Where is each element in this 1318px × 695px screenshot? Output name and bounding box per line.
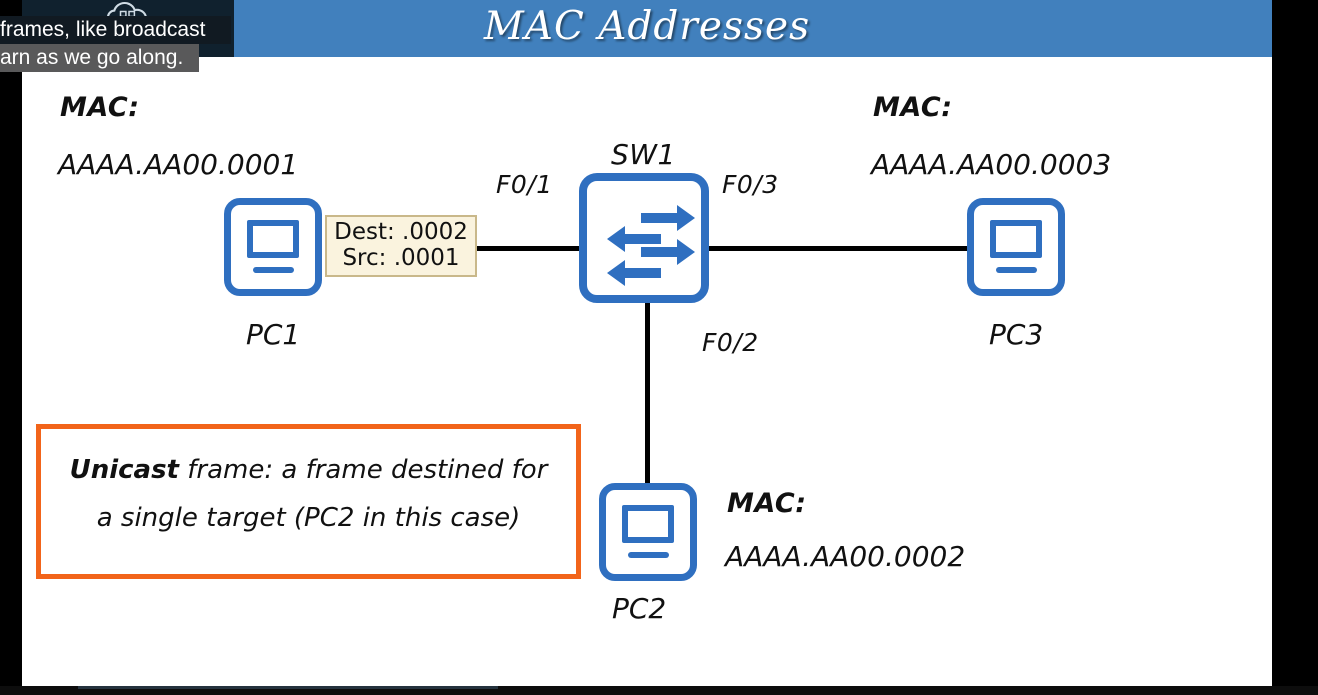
interface-label-f0-3: F0/3 xyxy=(722,170,779,199)
pc2-mac-title: MAC: xyxy=(727,488,807,519)
unicast-definition-callout: Unicast frame: a frame destined for a si… xyxy=(36,424,581,579)
pc1-mac-title: MAC: xyxy=(60,92,140,123)
pc2-icon[interactable] xyxy=(599,483,697,581)
video-player-stage: MAC Addresses SW1 F0/1 F0/3 F0/2 xyxy=(0,0,1318,695)
caption-line-1: frames, like broadcast xyxy=(0,16,231,44)
monitor-stand-icon xyxy=(253,267,294,273)
video-progress-bar[interactable] xyxy=(78,686,498,689)
pc1-icon[interactable] xyxy=(224,198,322,296)
video-caption-overlay: frames, like broadcast arn as we go alon… xyxy=(0,16,245,72)
pc2-mac-value: AAAA.AA00.0002 xyxy=(725,540,965,573)
unicast-keyword: Unicast xyxy=(70,455,179,485)
pc3-mac-title: MAC: xyxy=(873,92,953,123)
switch-arrows-icon xyxy=(599,195,703,295)
frame-header-tooltip: Dest: .0002 Src: .0001 xyxy=(325,215,477,277)
cable-sw1-pc3 xyxy=(702,246,990,251)
pc1-mac-value: AAAA.AA00.0001 xyxy=(58,148,298,181)
unicast-line1-rest: frame: a frame destined for xyxy=(179,455,547,485)
switch-name-label: SW1 xyxy=(611,138,676,171)
cable-sw1-pc2 xyxy=(645,295,650,485)
pc2-name-label: PC2 xyxy=(612,592,666,625)
monitor-stand-icon xyxy=(628,552,669,558)
monitor-screen-icon xyxy=(990,220,1042,258)
frame-src-label: Src: .0001 xyxy=(333,245,469,271)
video-player-controls-bar[interactable] xyxy=(0,686,1318,695)
interface-label-f0-2: F0/2 xyxy=(702,328,759,357)
frame-dest-label: Dest: .0002 xyxy=(333,219,469,245)
switch-icon[interactable] xyxy=(579,173,709,303)
monitor-stand-icon xyxy=(996,267,1037,273)
pc1-name-label: PC1 xyxy=(246,318,300,351)
interface-label-f0-1: F0/1 xyxy=(496,170,553,199)
pc3-name-label: PC3 xyxy=(989,318,1043,351)
unicast-callout-line-1: Unicast frame: a frame destined for xyxy=(41,455,576,485)
caption-line-2: arn as we go along. xyxy=(0,44,199,72)
monitor-screen-icon xyxy=(247,220,299,258)
pc3-mac-value: AAAA.AA00.0003 xyxy=(871,148,1111,181)
presentation-slide: MAC Addresses SW1 F0/1 F0/3 F0/2 xyxy=(22,0,1272,686)
pc3-icon[interactable] xyxy=(967,198,1065,296)
unicast-callout-line-2: a single target (PC2 in this case) xyxy=(41,503,576,533)
monitor-screen-icon xyxy=(622,505,674,543)
